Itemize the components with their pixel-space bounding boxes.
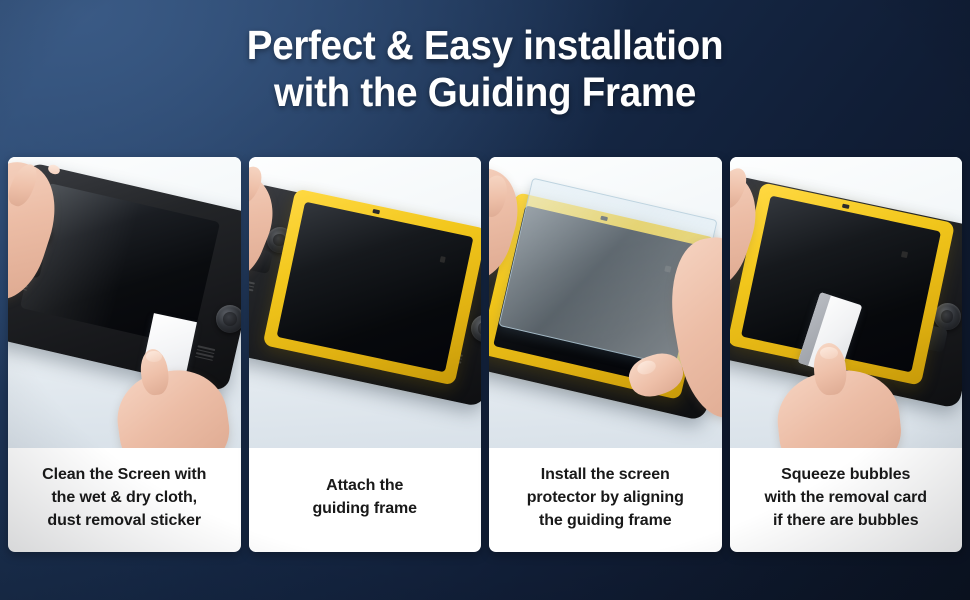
- step-card-2: Attach the guiding frame: [249, 157, 482, 552]
- step-3-caption: Install the screen protector by aligning…: [489, 448, 722, 552]
- thumb-nail: [146, 351, 162, 362]
- handheld-console-2: [249, 205, 482, 415]
- caption-line: if there are bubbles: [773, 512, 919, 529]
- step-card-4: Squeeze bubbles with the removal card if…: [730, 157, 963, 552]
- caption-line: the guiding frame: [539, 512, 672, 529]
- step-1-caption: Clean the Screen with the wet & dry clot…: [8, 448, 241, 552]
- caption-line: Attach the: [326, 477, 403, 494]
- screen-glare: [305, 202, 473, 238]
- frame-nub-top: [841, 204, 849, 209]
- step-1-photo: [8, 157, 241, 448]
- thumb-nail: [820, 347, 838, 359]
- screen-glare: [770, 195, 876, 217]
- page-title-line-1: Perfect & Easy installation: [29, 22, 941, 69]
- step-card-3: Install the screen protector by aligning…: [489, 157, 722, 552]
- installation-steps-gallery: Clean the Screen with the wet & dry clot…: [8, 157, 962, 552]
- frame-nub-top: [372, 209, 380, 214]
- right-thumbstick: [216, 305, 241, 333]
- caption-line: with the removal card: [765, 489, 927, 506]
- step-3-photo: [489, 157, 722, 448]
- step-2-caption: Attach the guiding frame: [249, 448, 482, 552]
- caption-line: guiding frame: [313, 500, 417, 517]
- caption-line: Squeeze bubbles: [781, 466, 910, 483]
- step-card-1: Clean the Screen with the wet & dry clot…: [8, 157, 241, 552]
- step-2-photo: [249, 157, 482, 448]
- caption-line: Install the screen: [541, 466, 670, 483]
- caption-line: the wet & dry cloth,: [51, 489, 197, 506]
- caption-line: dust removal sticker: [47, 512, 201, 529]
- right-thumbstick: [934, 303, 961, 330]
- caption-line: protector by aligning: [527, 489, 684, 506]
- step-4-photo: [730, 157, 963, 448]
- frame-window: [276, 202, 473, 373]
- page-title-line-2: with the Guiding Frame: [29, 69, 941, 116]
- caption-line: Clean the Screen with: [42, 466, 206, 483]
- frame-nub-right: [900, 251, 907, 258]
- page-title: Perfect & Easy installation with the Gui…: [0, 22, 970, 116]
- step-4-caption: Squeeze bubbles with the removal card if…: [730, 448, 963, 552]
- frame-nub-right: [439, 256, 445, 263]
